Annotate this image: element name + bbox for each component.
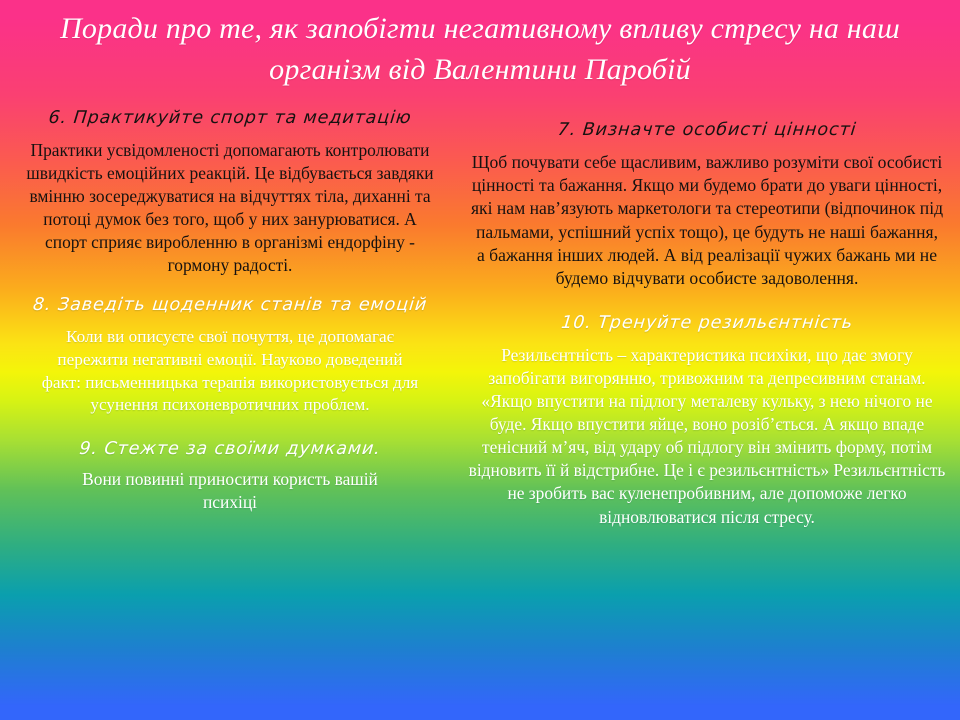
tip-section-8: 8. Заведіть щоденник станів та емоцій Ко… xyxy=(4,295,456,417)
tip-heading-9: 9. Стежте за своїми думками. xyxy=(3,439,457,461)
tip-body-7: Щоб почувати себе щасливим, важливо розу… xyxy=(458,151,956,291)
tip-section-6: 6. Практикуйте спорт та медитацію Практи… xyxy=(4,108,456,277)
tip-section-9: 9. Стежте за своїми думками. Вони повинн… xyxy=(4,439,456,514)
right-column: 7. Визначте особисті цінності Щоб почува… xyxy=(458,120,956,543)
tip-section-7: 7. Визначте особисті цінності Щоб почува… xyxy=(458,120,956,291)
slide-title-block: Поради про те, як запобігти негативному … xyxy=(0,8,960,91)
tip-heading-7: 7. Визначте особисті цінності xyxy=(457,120,957,142)
tip-heading-8: 8. Заведіть щоденник станів та емоцій xyxy=(3,295,457,317)
left-column: 6. Практикуйте спорт та медитацію Практи… xyxy=(4,108,456,528)
tip-heading-6: 6. Практикуйте спорт та медитацію xyxy=(3,108,457,130)
presentation-slide: Поради про те, як запобігти негативному … xyxy=(0,0,960,720)
page-title: Поради про те, як запобігти негативному … xyxy=(24,8,936,91)
tip-body-6: Практики усвідомленості допомагають конт… xyxy=(4,139,456,277)
tip-heading-10: 10. Тренуйте резильєнтність xyxy=(457,313,957,335)
tip-body-10: Резильєнтність – характеристика психіки,… xyxy=(458,344,956,529)
tip-section-10: 10. Тренуйте резильєнтність Резильєнтніс… xyxy=(458,313,956,529)
tip-body-9: Вони повинні приносити користь вашій пси… xyxy=(4,468,456,514)
tip-body-8: Коли ви описуєте свої почуття, це допома… xyxy=(4,326,456,417)
